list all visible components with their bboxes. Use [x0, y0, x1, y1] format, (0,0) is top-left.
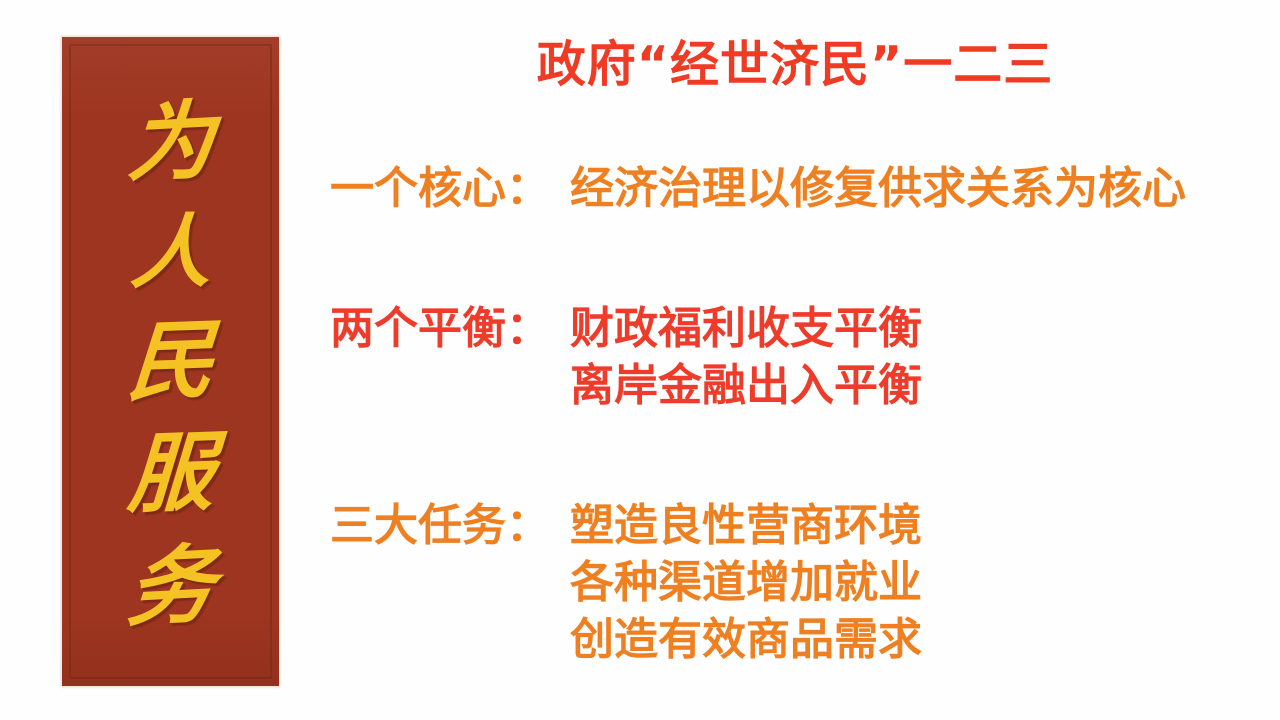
content-block-one-core: 一个核心： 经济治理以修复供求关系为核心 [330, 160, 1260, 217]
block-lines-two-balances: 财政福利收支平衡 离岸金融出入平衡 [570, 300, 1260, 414]
block-label-one-core: 一个核心： [330, 160, 570, 217]
content-line: 经济治理以修复供求关系为核心 [570, 160, 1260, 217]
block-lines-three-tasks: 塑造良性营商环境 各种渠道增加就业 创造有效商品需求 [570, 497, 1260, 668]
block-lines-one-core: 经济治理以修复供求关系为核心 [570, 160, 1260, 217]
banner-character-column: 为 人 民 服 务 [62, 37, 279, 686]
banner-char-5: 务 [124, 543, 218, 629]
banner-char-2: 人 [128, 213, 212, 290]
content-block-three-tasks: 三大任务： 塑造良性营商环境 各种渠道增加就业 创造有效商品需求 [330, 497, 1260, 668]
block-label-three-tasks: 三大任务： [330, 497, 570, 554]
content-line: 离岸金融出入平衡 [570, 357, 1260, 414]
banner-char-1: 为 [124, 100, 216, 186]
slide-canvas: 为 人 民 服 务 政府“经世济民”一二三 一个核心： 经济治理以修复供求关系为… [0, 0, 1280, 720]
slide-body: 一个核心： 经济治理以修复供求关系为核心 两个平衡： 财政福利收支平衡 离岸金融… [330, 160, 1260, 668]
content-line: 财政福利收支平衡 [570, 300, 1260, 357]
content-line: 各种渠道增加就业 [570, 554, 1260, 611]
calligraphy-banner: 为 人 民 服 务 [62, 37, 279, 686]
content-block-two-balances: 两个平衡： 财政福利收支平衡 离岸金融出入平衡 [330, 300, 1260, 414]
block-label-two-balances: 两个平衡： [330, 300, 570, 357]
banner-char-4: 服 [125, 432, 216, 517]
slide-title: 政府“经世济民”一二三 [330, 36, 1260, 94]
content-line: 创造有效商品需求 [570, 611, 1260, 668]
content-line: 塑造良性营商环境 [570, 497, 1260, 554]
banner-char-3: 民 [125, 319, 217, 404]
